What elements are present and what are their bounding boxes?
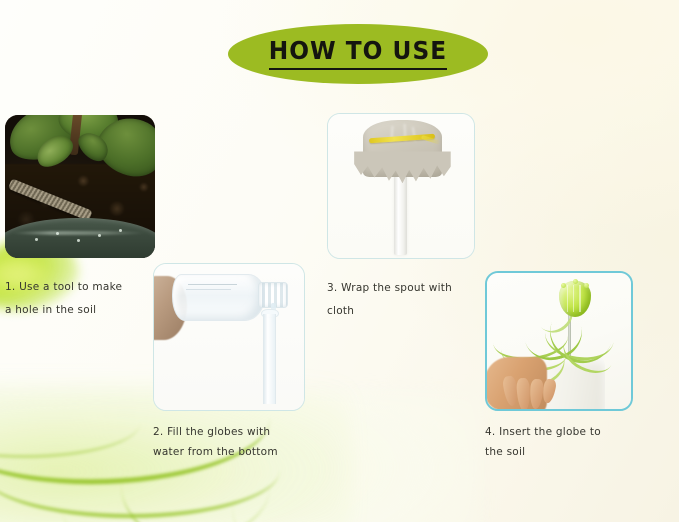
photo-globe-inserted-in-pot — [485, 271, 633, 411]
photo-soil-with-tool — [5, 115, 155, 258]
photo-spout-wrapped-with-cloth — [327, 113, 475, 259]
page-title-badge: HOW TO USE — [228, 24, 488, 84]
watering-globe — [559, 281, 591, 316]
how-to-use-infographic: HOW TO USE 1. Use a tool to make a hole … — [0, 0, 679, 522]
step-2-caption: 2. Fill the globes with water from the b… — [153, 423, 328, 463]
water-bottle — [172, 274, 265, 321]
page-title: HOW TO USE — [269, 38, 447, 63]
step-2: 2. Fill the globes with water from the b… — [153, 263, 328, 463]
step-1-caption: 1. Use a tool to make a hole in the soil — [5, 276, 165, 321]
globe-glass-tube — [263, 314, 276, 405]
page-title-underline — [269, 68, 447, 70]
step-4: 4. Insert the globe to the soil — [485, 271, 645, 463]
flower-pot-rim — [5, 218, 155, 258]
step-3: 3. Wrap the spout with cloth — [327, 113, 487, 322]
step-1: 1. Use a tool to make a hole in the soil — [5, 115, 165, 321]
step-3-caption: 3. Wrap the spout with cloth — [327, 277, 487, 322]
step-4-caption: 4. Insert the globe to the soil — [485, 423, 645, 463]
photo-bottle-filling-globe — [153, 263, 305, 411]
